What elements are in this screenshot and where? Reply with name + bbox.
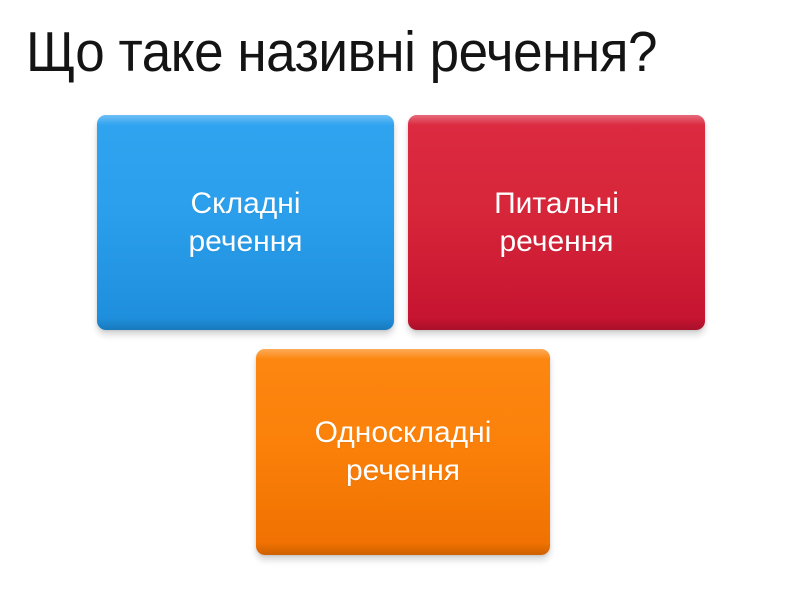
answer-options-group: Складні речення Питальні речення Односкл… <box>0 0 800 600</box>
answer-option-3-label: Односкладні речення <box>301 414 506 490</box>
answer-option-2[interactable]: Питальні речення <box>408 115 705 330</box>
answer-option-1-label: Складні речення <box>174 185 316 261</box>
answer-option-2-label: Питальні речення <box>480 185 633 261</box>
answer-option-1[interactable]: Складні речення <box>97 115 394 330</box>
answer-option-3[interactable]: Односкладні речення <box>256 349 550 555</box>
quiz-screen: Що таке називні речення? Складні речення… <box>0 0 800 600</box>
